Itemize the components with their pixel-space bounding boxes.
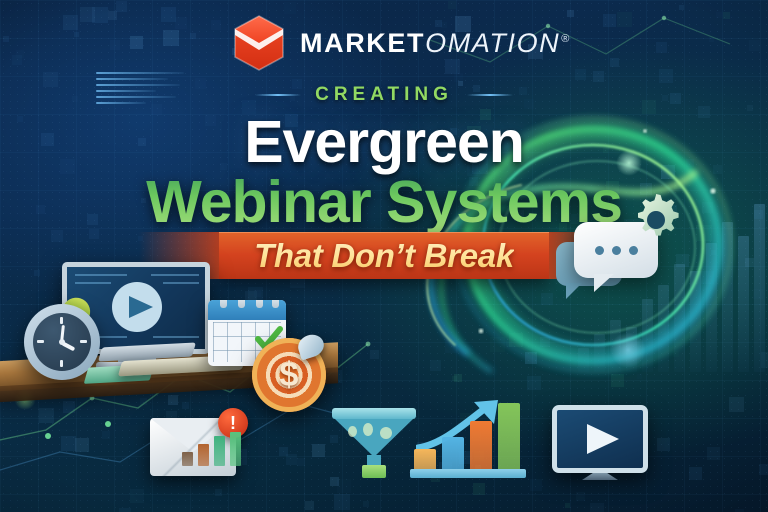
mosaic-pixel bbox=[745, 258, 754, 267]
mosaic-pixel bbox=[655, 324, 666, 335]
video-player-monitor-icon[interactable] bbox=[552, 405, 648, 473]
growth-bar bbox=[442, 437, 464, 469]
mosaic-pixel bbox=[286, 454, 297, 465]
promo-banner: MARKET OMATION ® CREATING Evergreen Webi… bbox=[0, 0, 768, 512]
mosaic-pixel bbox=[74, 32, 79, 37]
background-bar bbox=[722, 222, 733, 373]
registered-trademark-symbol: ® bbox=[561, 33, 571, 45]
mosaic-pixel bbox=[565, 503, 570, 508]
bar-chart-mini-icon bbox=[182, 430, 254, 466]
mosaic-pixel bbox=[723, 12, 730, 19]
mosaic-pixel bbox=[211, 20, 221, 30]
mosaic-pixel bbox=[575, 69, 586, 80]
kicker-row: CREATING bbox=[0, 84, 768, 106]
mosaic-pixel bbox=[454, 374, 462, 382]
funnel-top bbox=[332, 408, 416, 419]
mosaic-pixel bbox=[656, 42, 667, 53]
mosaic-pixel bbox=[110, 40, 120, 50]
mosaic-pixel bbox=[611, 374, 624, 387]
kicker-dash-left bbox=[255, 94, 301, 96]
background-bar bbox=[706, 243, 717, 373]
brand-name-bold: MARKET bbox=[300, 28, 425, 59]
growth-bar bbox=[470, 421, 492, 469]
mosaic-pixel bbox=[116, 1, 127, 12]
mosaic-pixel bbox=[617, 12, 632, 27]
mosaic-pixel bbox=[673, 351, 679, 357]
brand-logo[interactable]: MARKET OMATION ® bbox=[232, 14, 571, 72]
mini-bar bbox=[214, 436, 225, 466]
mosaic-pixel bbox=[576, 492, 585, 501]
mosaic-pixel bbox=[454, 73, 463, 82]
background-bar bbox=[738, 236, 749, 373]
tv-stand bbox=[582, 473, 618, 480]
mosaic-pixel bbox=[689, 467, 702, 480]
mosaic-pixel bbox=[312, 444, 325, 457]
mosaic-pixel bbox=[679, 5, 684, 10]
mosaic-pixel bbox=[34, 270, 40, 276]
mosaic-pixel bbox=[130, 36, 143, 49]
chat-dot bbox=[612, 246, 621, 255]
funnel-cone bbox=[335, 419, 413, 457]
mosaic-pixel bbox=[593, 71, 604, 82]
mosaic-pixel bbox=[709, 37, 714, 42]
growth-bar bbox=[498, 403, 520, 469]
subtitle-text: That Don’t Break bbox=[254, 237, 514, 275]
growth-chart-icon bbox=[410, 398, 526, 478]
background-bar bbox=[578, 348, 589, 373]
mosaic-pixel bbox=[168, 395, 178, 405]
mosaic-pixel bbox=[284, 2, 296, 14]
background-bar bbox=[610, 320, 621, 373]
background-bar bbox=[674, 264, 685, 373]
mosaic-pixel bbox=[305, 501, 314, 510]
mosaic-pixel bbox=[610, 58, 619, 67]
mosaic-pixel bbox=[190, 33, 196, 39]
mosaic-pixel bbox=[108, 11, 117, 20]
mosaic-pixel bbox=[761, 352, 768, 368]
mosaic-pixel bbox=[363, 501, 369, 507]
brand-name-italic: OMATION bbox=[425, 28, 560, 59]
mosaic-pixel bbox=[590, 503, 604, 512]
mosaic-pixel bbox=[63, 401, 75, 413]
mosaic-pixel bbox=[473, 483, 485, 495]
mosaic-pixel bbox=[175, 17, 187, 29]
mosaic-pixel bbox=[509, 333, 523, 347]
mosaic-pixel bbox=[711, 250, 716, 255]
mosaic-pixel bbox=[448, 1, 456, 9]
mosaic-pixel bbox=[161, 7, 176, 22]
clock-face bbox=[33, 313, 91, 371]
coin-dollar-symbol: $ bbox=[280, 356, 299, 395]
mosaic-pixel bbox=[130, 489, 144, 503]
mosaic-pixel bbox=[525, 352, 537, 364]
background-bar bbox=[626, 327, 637, 373]
mosaic-pixel bbox=[729, 397, 744, 412]
mosaic-pixel bbox=[334, 494, 350, 510]
mosaic-pixel bbox=[330, 477, 339, 486]
mosaic-pixel bbox=[119, 508, 131, 512]
mosaic-pixel bbox=[452, 376, 457, 381]
mosaic-pixel bbox=[279, 447, 288, 456]
kicker-dash-right bbox=[467, 94, 513, 96]
sales-funnel-icon bbox=[332, 408, 416, 478]
mosaic-pixel bbox=[163, 30, 179, 46]
background-bar bbox=[594, 334, 605, 373]
mosaic-pixel bbox=[3, 36, 9, 42]
mosaic-pixel bbox=[63, 15, 78, 30]
mosaic-pixel bbox=[140, 398, 147, 405]
chat-dot bbox=[595, 246, 604, 255]
glow-accent bbox=[610, 332, 646, 368]
background-bar bbox=[690, 271, 701, 373]
tv-screen bbox=[552, 405, 648, 473]
mini-bar bbox=[182, 452, 193, 466]
mosaic-pixel bbox=[657, 438, 670, 451]
mosaic-pixel bbox=[16, 50, 24, 58]
mosaic-pixel bbox=[370, 350, 379, 359]
subtitle-banner: That Don’t Break bbox=[219, 232, 549, 279]
mosaic-pixel bbox=[707, 447, 720, 460]
mosaic-pixel bbox=[297, 458, 305, 466]
mosaic-pixel bbox=[215, 489, 222, 496]
mosaic-pixel bbox=[102, 431, 110, 439]
growth-baseline bbox=[410, 469, 526, 478]
funnel-output bbox=[362, 465, 386, 478]
headline-line-1: Evergreen bbox=[0, 108, 768, 176]
mosaic-pixel bbox=[637, 374, 642, 379]
mosaic-pixel bbox=[676, 254, 689, 267]
gear-icon[interactable] bbox=[628, 192, 684, 248]
mosaic-pixel bbox=[75, 438, 89, 452]
mosaic-pixel bbox=[430, 360, 441, 371]
mosaic-pixel bbox=[530, 479, 542, 491]
mosaic-pixel bbox=[749, 40, 760, 51]
mosaic-pixel bbox=[659, 69, 673, 83]
mosaic-pixel bbox=[12, 55, 22, 65]
mini-bar bbox=[230, 432, 241, 466]
mosaic-pixel bbox=[541, 293, 553, 305]
mosaic-pixel bbox=[527, 376, 541, 390]
cube-box-icon bbox=[232, 14, 286, 72]
background-bar bbox=[642, 299, 653, 373]
mosaic-pixel bbox=[337, 479, 351, 493]
mosaic-pixel bbox=[61, 436, 76, 451]
mosaic-pixel bbox=[80, 7, 95, 22]
growth-bar bbox=[414, 449, 436, 469]
mosaic-pixel bbox=[490, 337, 505, 352]
mini-bar bbox=[198, 444, 209, 466]
background-bar bbox=[658, 285, 669, 373]
kicker-text: CREATING bbox=[315, 84, 453, 106]
mosaic-pixel bbox=[506, 341, 512, 347]
mosaic-pixel bbox=[445, 340, 458, 353]
mosaic-pixel bbox=[716, 12, 722, 18]
mosaic-pixel bbox=[39, 408, 54, 423]
mosaic-pixel bbox=[603, 14, 616, 27]
mosaic-pixel bbox=[701, 271, 714, 284]
mosaic-pixel bbox=[92, 7, 108, 23]
mosaic-pixel bbox=[753, 289, 763, 299]
mosaic-pixel bbox=[254, 290, 261, 297]
mosaic-pixel bbox=[540, 337, 550, 347]
mosaic-pixel bbox=[759, 464, 768, 475]
mosaic-pixel bbox=[182, 402, 189, 409]
